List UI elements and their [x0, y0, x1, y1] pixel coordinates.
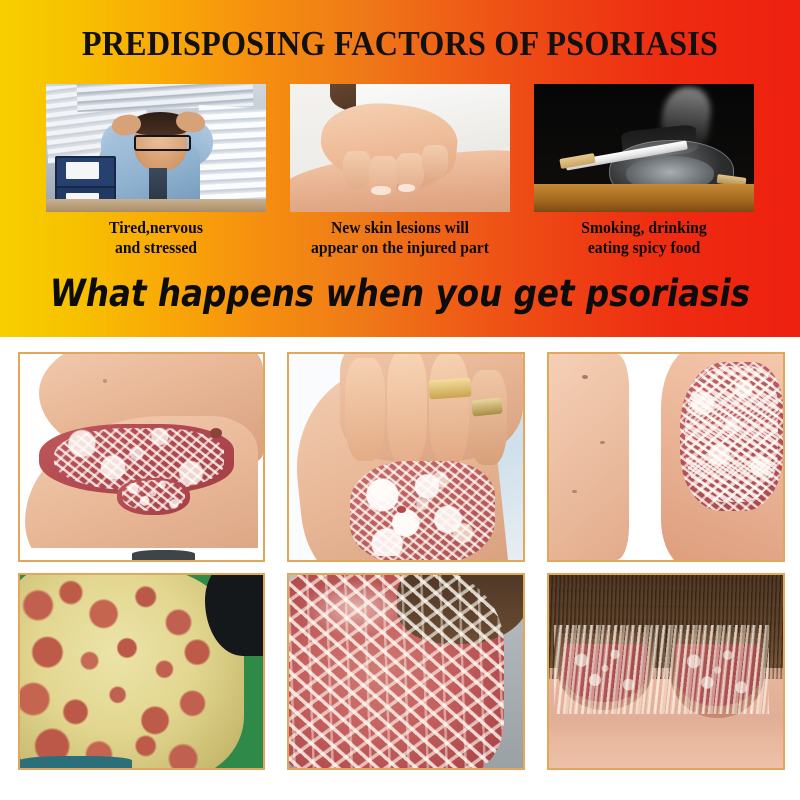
factor-card-smoking: Smoking, drinking eating spicy food: [534, 84, 754, 258]
psoriasis-infographic: PREDISPOSING FACTORS OF PSORIASIS: [0, 0, 800, 800]
factor-caption-line2: appear on the injured part: [296, 238, 505, 258]
factor-caption-line1: Tired,nervous: [52, 218, 261, 238]
factor-caption: Tired,nervous and stressed: [52, 218, 261, 258]
gradient-banner: PREDISPOSING FACTORS OF PSORIASIS: [0, 0, 800, 337]
factor-caption-line1: Smoking, drinking: [540, 218, 749, 238]
factor-caption: New skin lesions will appear on the inju…: [296, 218, 505, 258]
psoriasis-knee-photo: [547, 352, 785, 562]
psoriasis-scalp-photo: [547, 573, 785, 770]
psoriasis-closeup-photo: [287, 573, 525, 770]
factor-caption-line1: New skin lesions will: [296, 218, 505, 238]
psoriasis-hand-photo: [287, 352, 525, 562]
psoriasis-back-photo: [18, 573, 265, 770]
stressed-office-worker-photo: [46, 84, 266, 212]
factor-card-stress: Tired,nervous and stressed: [46, 84, 266, 258]
smoking-ashtray-photo: [534, 84, 754, 212]
factor-caption-line2: eating spicy food: [540, 238, 749, 258]
page-title: PREDISPOSING FACTORS OF PSORIASIS: [32, 24, 768, 64]
scratching-skin-photo: [290, 84, 510, 212]
factor-card-skin-injury: New skin lesions will appear on the inju…: [290, 84, 510, 258]
psoriasis-elbow-photo: [18, 352, 265, 562]
factor-caption: Smoking, drinking eating spicy food: [540, 218, 749, 258]
factor-caption-line2: and stressed: [52, 238, 261, 258]
page-subtitle: What happens when you get psoriasis: [48, 272, 752, 315]
